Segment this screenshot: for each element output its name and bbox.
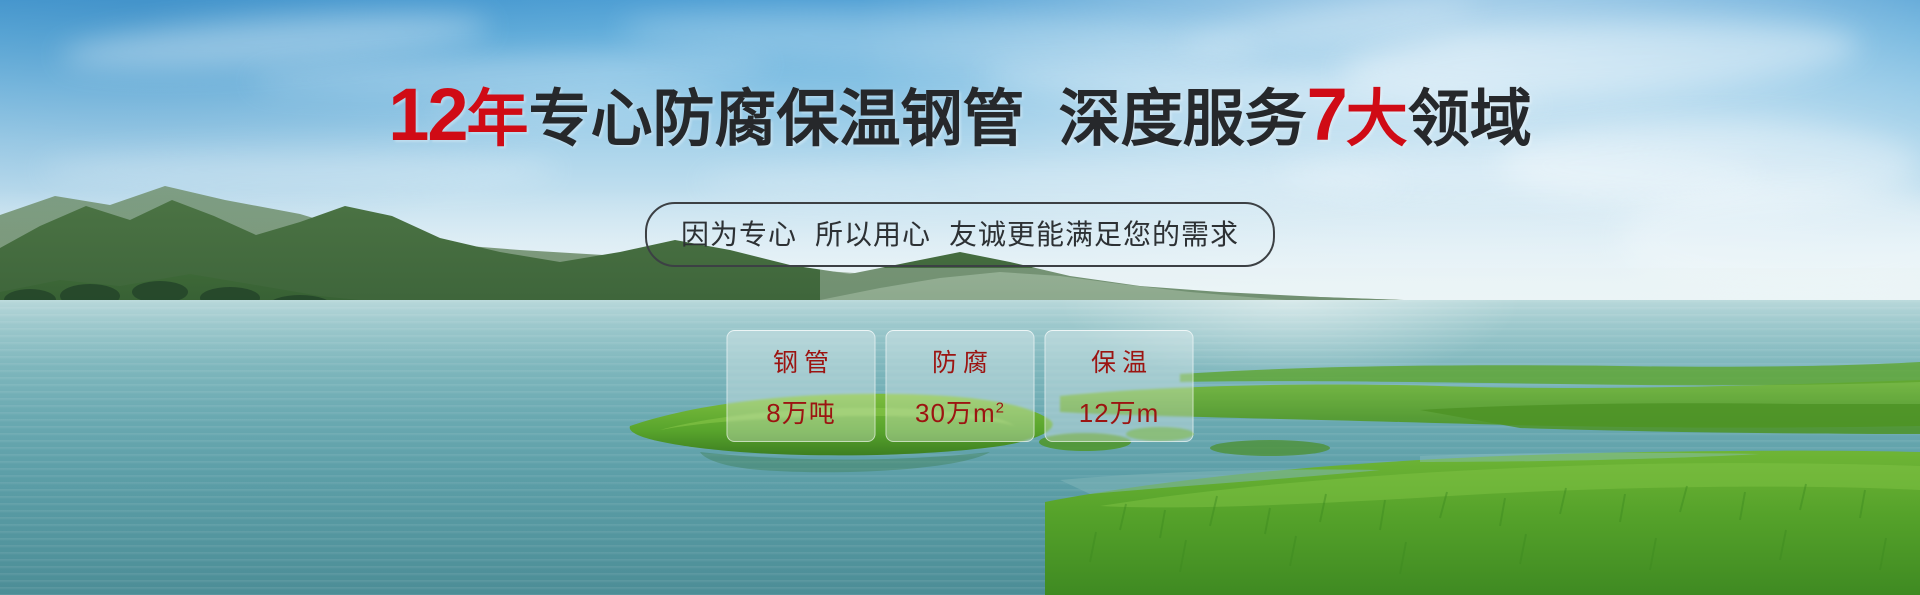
headline-number-fields: 7 [1307, 73, 1346, 156]
stat-card-value-text: 30万m [915, 398, 996, 428]
headline-unit-years: 年 [467, 85, 529, 154]
subtitle-segment-2: 所以用心 [815, 219, 931, 250]
stat-card-anticorrosion: 防腐 30万m2 [886, 330, 1035, 442]
headline-number-years: 12 [388, 73, 466, 156]
stat-card-value-text: 12万m [1079, 398, 1160, 428]
stat-card-steel-pipe: 钢管 8万吨 [727, 330, 876, 442]
headline-segment-service: 深度服务 [1059, 85, 1307, 154]
headline-segment-domains: 领域 [1408, 85, 1532, 154]
stat-card-label: 保温 [1085, 343, 1153, 379]
stat-card-group: 钢管 8万吨 防腐 30万m2 保温 12万m [727, 330, 1194, 442]
stat-card-value: 30万m2 [915, 393, 1005, 430]
stat-card-insulation: 保温 12万m [1045, 330, 1194, 442]
subtitle-segment-3: 友诚更能满足您的需求 [949, 219, 1239, 250]
stat-card-value: 8万吨 [766, 393, 835, 430]
subtitle-pill: 因为专心所以用心友诚更能满足您的需求 [645, 202, 1275, 267]
stat-card-value-text: 8万吨 [766, 398, 835, 428]
hero-banner: 12年专心防腐保温钢管深度服务7大领域 因为专心所以用心友诚更能满足您的需求 钢… [0, 0, 1920, 595]
stat-card-label: 防腐 [926, 343, 994, 379]
page-title: 12年专心防腐保温钢管深度服务7大领域 [0, 78, 1920, 152]
subtitle-segment-1: 因为专心 [681, 219, 797, 250]
stat-card-value-superscript: 2 [996, 399, 1005, 416]
headline-unit-fields: 大 [1346, 85, 1408, 154]
banner-content: 12年专心防腐保温钢管深度服务7大领域 因为专心所以用心友诚更能满足您的需求 钢… [0, 0, 1920, 595]
stat-card-value: 12万m [1079, 393, 1160, 430]
stat-card-label: 钢管 [767, 343, 835, 379]
headline-segment-focus: 专心防腐保温钢管 [529, 85, 1025, 154]
